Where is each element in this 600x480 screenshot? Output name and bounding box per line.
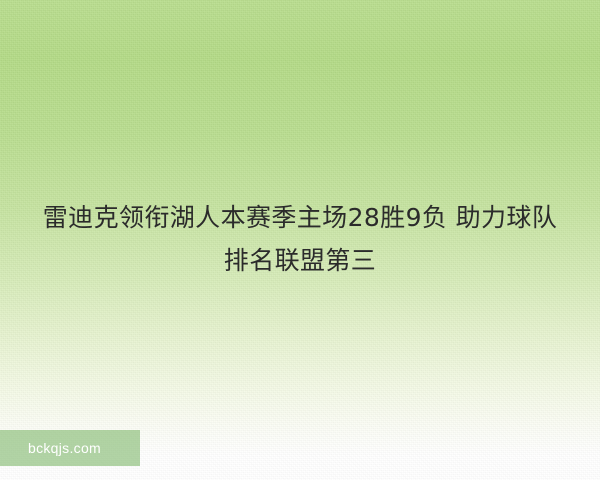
watermark-label: bckqjs.com <box>28 440 101 456</box>
watermark-badge: bckqjs.com <box>0 430 140 466</box>
headline-text: 雷迪克领衔湖人本赛季主场28胜9负 助力球队排名联盟第三 <box>0 196 600 282</box>
image-card: 雷迪克领衔湖人本赛季主场28胜9负 助力球队排名联盟第三 bckqjs.com <box>0 0 600 480</box>
